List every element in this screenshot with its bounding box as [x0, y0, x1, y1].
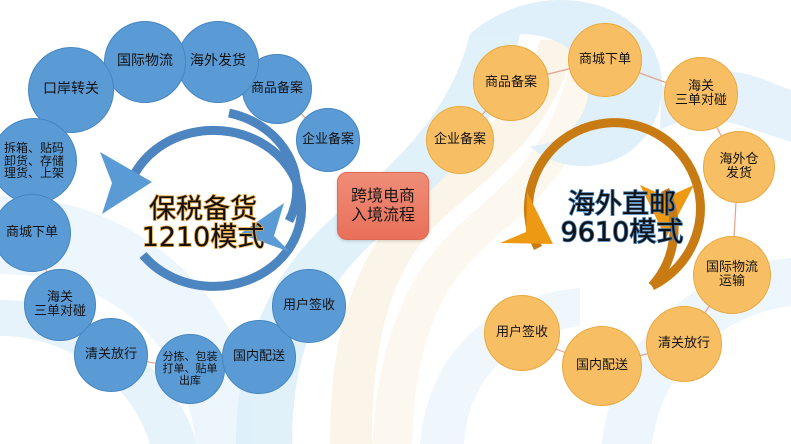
node-left-customs-clearance[interactable]: 清关放行	[74, 318, 148, 392]
cycle-title-bonded-1210: 保税备货 1210模式	[108, 168, 298, 252]
node-label: 国内配送	[574, 359, 630, 373]
node-right-mall-order[interactable]: 商城下单	[568, 23, 642, 97]
node-right-goods-filing[interactable]: 商品备案	[473, 45, 549, 121]
cycle-title-text: 保税备货 1210模式	[142, 194, 265, 253]
node-left-sort-pack-print-out[interactable]: 分拣、包装 打单、贴单 出库	[155, 334, 225, 404]
node-right-international-logistics-transport[interactable]: 国际物流 运输	[693, 236, 771, 314]
node-label: 海外仓 发货	[717, 153, 760, 181]
node-label: 口岸转关	[41, 82, 101, 97]
node-label: 用户签收	[281, 299, 337, 313]
node-label: 企业备案	[300, 133, 356, 147]
node-label: 国内配送	[231, 350, 287, 364]
node-left-international-logistics[interactable]: 国际物流	[104, 21, 186, 103]
node-label: 清关放行	[83, 348, 139, 362]
node-right-domestic-delivery[interactable]: 国内配送	[562, 326, 642, 406]
node-label: 企业备案	[432, 133, 488, 147]
node-label: 清关放行	[656, 337, 712, 351]
diagram-canvas: 保税备货 1210模式 海外直邮 9610模式 跨境电商 入境流程 企业备案 商…	[0, 0, 791, 444]
center-process-label: 跨境电商 入境流程	[351, 187, 415, 225]
node-left-enterprise-filing[interactable]: 企业备案	[296, 108, 360, 172]
center-process-box[interactable]: 跨境电商 入境流程	[337, 172, 429, 240]
node-left-overseas-shipping[interactable]: 海外发货	[177, 21, 259, 103]
cycle-title-text: 海外直邮 9610模式	[561, 189, 684, 248]
node-label: 商品备案	[483, 76, 539, 90]
node-label: 海外发货	[188, 54, 248, 69]
node-right-customs-clearance[interactable]: 清关放行	[646, 306, 722, 382]
node-label: 国际物流 运输	[704, 261, 760, 289]
node-label: 用户签收	[494, 326, 550, 340]
node-right-user-receipt[interactable]: 用户签收	[484, 295, 560, 371]
node-label: 拆箱、贴码 卸货、存储 理货、上架	[2, 142, 66, 181]
cycle-title-direct-mail-9610: 海外直邮 9610模式	[524, 163, 720, 247]
node-left-user-receipt[interactable]: 用户签收	[272, 269, 346, 343]
node-label: 国际物流	[115, 54, 175, 69]
node-right-enterprise-filing[interactable]: 企业备案	[426, 106, 494, 174]
node-right-customs-three-order-match[interactable]: 海关 三单对碰	[664, 57, 738, 131]
node-label: 分拣、包装 打单、贴单 出库	[161, 351, 220, 387]
node-label: 海关 三单对碰	[32, 291, 88, 319]
node-label: 商品备案	[249, 82, 305, 96]
node-label: 海关 三单对碰	[673, 80, 729, 108]
node-label: 商城下单	[4, 226, 60, 240]
node-label: 商城下单	[577, 53, 633, 67]
